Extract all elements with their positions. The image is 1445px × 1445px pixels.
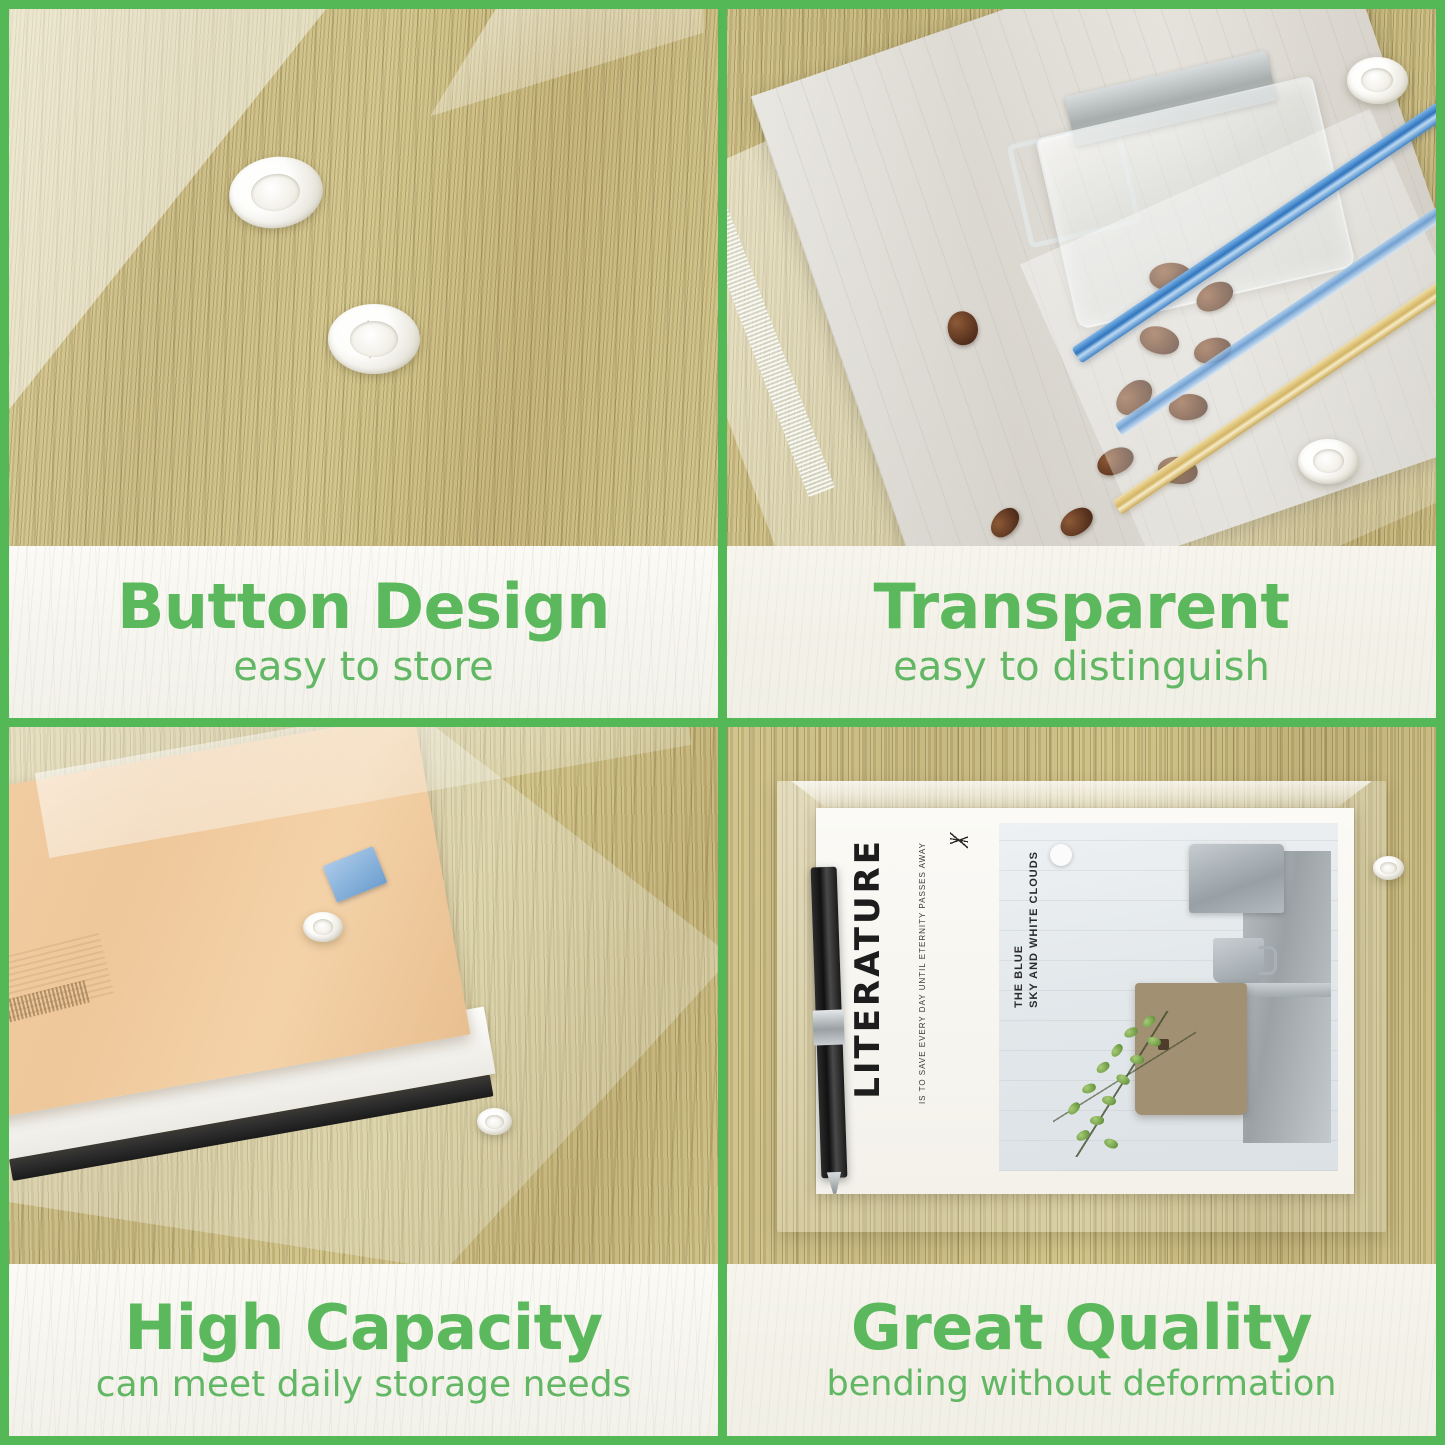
snap-button-icon	[1347, 57, 1408, 103]
sleeve-lip	[791, 781, 1372, 808]
photo-button-design	[9, 9, 718, 546]
cover-photo-caption: THE BLUESKY AND WHITE CLOUDS	[1012, 851, 1042, 1008]
product-feature-infographic: Button Design easy to store	[0, 0, 1445, 1445]
feature-panel-high-capacity[interactable]: High Capacity can meet daily storage nee…	[9, 727, 718, 1436]
photo-high-capacity	[9, 727, 718, 1264]
watering-can	[1189, 844, 1284, 914]
feature-grid: Button Design easy to store	[9, 9, 1436, 1436]
snap-button-icon	[1298, 439, 1358, 484]
magazine-subtitle: IS TO SAVE EVERY DAY UNTIL ETERNITY PASS…	[918, 842, 927, 1104]
coffee-bean	[986, 502, 1025, 542]
feature-title: Button Design	[117, 575, 610, 638]
leaf-sprig-icon	[950, 831, 968, 849]
cover-dot-accent	[1050, 844, 1072, 866]
caption-button-design: Button Design easy to store	[9, 546, 718, 718]
feature-subtitle: bending without deformation	[827, 1365, 1337, 1404]
feature-panel-button-design[interactable]: Button Design easy to store	[9, 9, 718, 718]
feature-title: High Capacity	[124, 1296, 602, 1359]
feature-panel-transparent[interactable]: Transparent easy to distinguish	[727, 9, 1436, 718]
feature-panel-great-quality[interactable]: LITERATURE IS TO SAVE EVERY DAY UNTIL ET…	[727, 727, 1436, 1436]
trailing-plant	[1053, 1011, 1196, 1157]
magazine: LITERATURE IS TO SAVE EVERY DAY UNTIL ET…	[816, 808, 1355, 1195]
snap-button-icon	[1373, 856, 1404, 880]
caption-great-quality: Great Quality bending without deformatio…	[727, 1264, 1436, 1436]
photo-transparent	[727, 9, 1436, 546]
photo-great-quality: LITERATURE IS TO SAVE EVERY DAY UNTIL ET…	[727, 727, 1436, 1264]
feature-title: Transparent	[873, 575, 1289, 638]
feature-subtitle: can meet daily storage needs	[96, 1365, 632, 1405]
snap-button-icon	[328, 304, 420, 374]
magazine-title: LITERATURE	[848, 838, 888, 1099]
feature-title: Great Quality	[851, 1296, 1312, 1359]
feature-subtitle: easy to distinguish	[893, 645, 1270, 689]
magazine-cover-photo: THE BLUESKY AND WHITE CLOUDS	[999, 823, 1338, 1171]
coffee-bean	[945, 308, 981, 347]
ceramic-cup	[1213, 938, 1264, 983]
caption-high-capacity: High Capacity can meet daily storage nee…	[9, 1264, 718, 1436]
caption-transparent: Transparent easy to distinguish	[727, 546, 1436, 718]
feature-subtitle: easy to store	[233, 645, 493, 689]
coffee-bean	[1056, 502, 1099, 542]
snap-button-ribs	[340, 313, 408, 365]
